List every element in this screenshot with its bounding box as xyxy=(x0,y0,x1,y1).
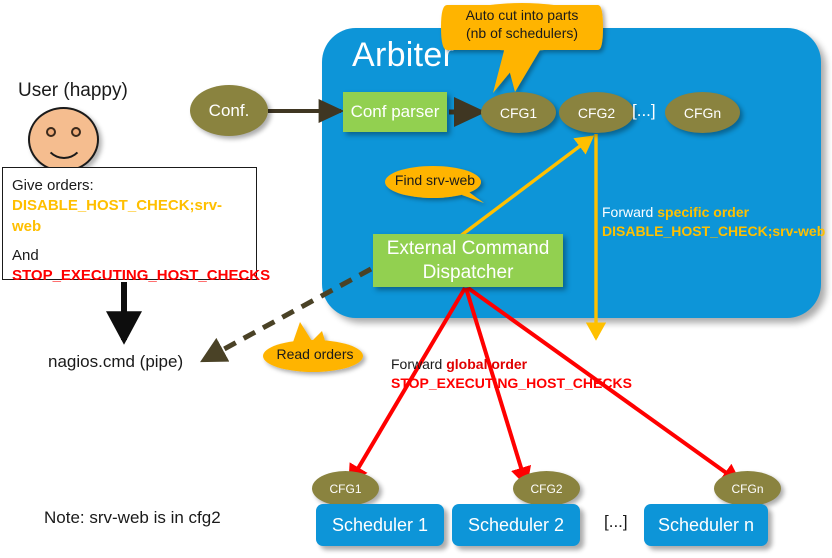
conf-parser-node[interactable]: Conf parser xyxy=(343,92,447,132)
scheduler-1-node[interactable]: Scheduler 1 xyxy=(316,504,444,546)
forward-specific-lead: Forward xyxy=(602,204,657,220)
cfg2-node[interactable]: CFG2 xyxy=(559,92,634,133)
diagram-canvas: Arbiter xyxy=(0,0,832,558)
cfg-ellipsis-label: [...] xyxy=(632,101,656,121)
orders-line-1: Give orders: xyxy=(12,176,247,196)
scheduler-1-cfg-badge[interactable]: CFG1 xyxy=(312,471,379,506)
user-label: User (happy) xyxy=(18,80,128,102)
cfgn-node[interactable]: CFGn xyxy=(665,92,740,133)
scheduler-2-cfg-badge[interactable]: CFG2 xyxy=(513,471,580,506)
scheduler-n-node[interactable]: Scheduler n xyxy=(644,504,768,546)
callout-read-orders-label: Read orders xyxy=(272,346,358,364)
arbiter-title: Arbiter xyxy=(352,36,454,75)
scheduler-n-cfg-badge[interactable]: CFGn xyxy=(714,471,781,506)
forward-specific-order-annotation: Forward specific order DISABLE_HOST_CHEC… xyxy=(602,203,825,241)
forward-specific-order-line1: Forward specific order xyxy=(602,203,825,222)
nagios-cmd-pipe-label: nagios.cmd (pipe) xyxy=(48,352,183,372)
user-orders-box: Give orders: DISABLE_HOST_CHECK;srv-web … xyxy=(2,167,257,280)
orders-line-2: And xyxy=(12,246,247,266)
external-command-dispatcher-node[interactable]: External Command Dispatcher xyxy=(373,234,563,287)
orders-command-specific: DISABLE_HOST_CHECK;srv-web xyxy=(12,196,247,237)
forward-specific-command: DISABLE_HOST_CHECK;srv-web xyxy=(602,222,825,241)
forward-global-highlight: global order xyxy=(446,356,527,372)
forward-global-order-line1: Forward global order xyxy=(391,355,632,374)
note-label: Note: srv-web is in cfg2 xyxy=(44,508,221,528)
forward-global-order-annotation: Forward global order STOP_EXECUTING_HOST… xyxy=(391,355,632,393)
orders-command-global: STOP_EXECUTING_HOST_CHECKS xyxy=(12,266,247,286)
smiley-face-icon xyxy=(28,107,99,172)
eye-right-icon xyxy=(71,127,81,137)
eye-left-icon xyxy=(46,127,56,137)
scheduler-2-node[interactable]: Scheduler 2 xyxy=(452,504,580,546)
forward-global-command: STOP_EXECUTING_HOST_CHECKS xyxy=(391,374,632,393)
callout-read-orders-bubble xyxy=(263,322,363,372)
forward-specific-highlight: specific order xyxy=(657,204,749,220)
conf-source-node[interactable]: Conf. xyxy=(190,85,268,136)
orders-spacer xyxy=(12,237,247,246)
smile-mouth-icon xyxy=(44,137,84,159)
scheduler-ellipsis-label: [...] xyxy=(604,512,628,532)
forward-global-lead: Forward xyxy=(391,356,446,372)
cfg1-node[interactable]: CFG1 xyxy=(481,92,556,133)
